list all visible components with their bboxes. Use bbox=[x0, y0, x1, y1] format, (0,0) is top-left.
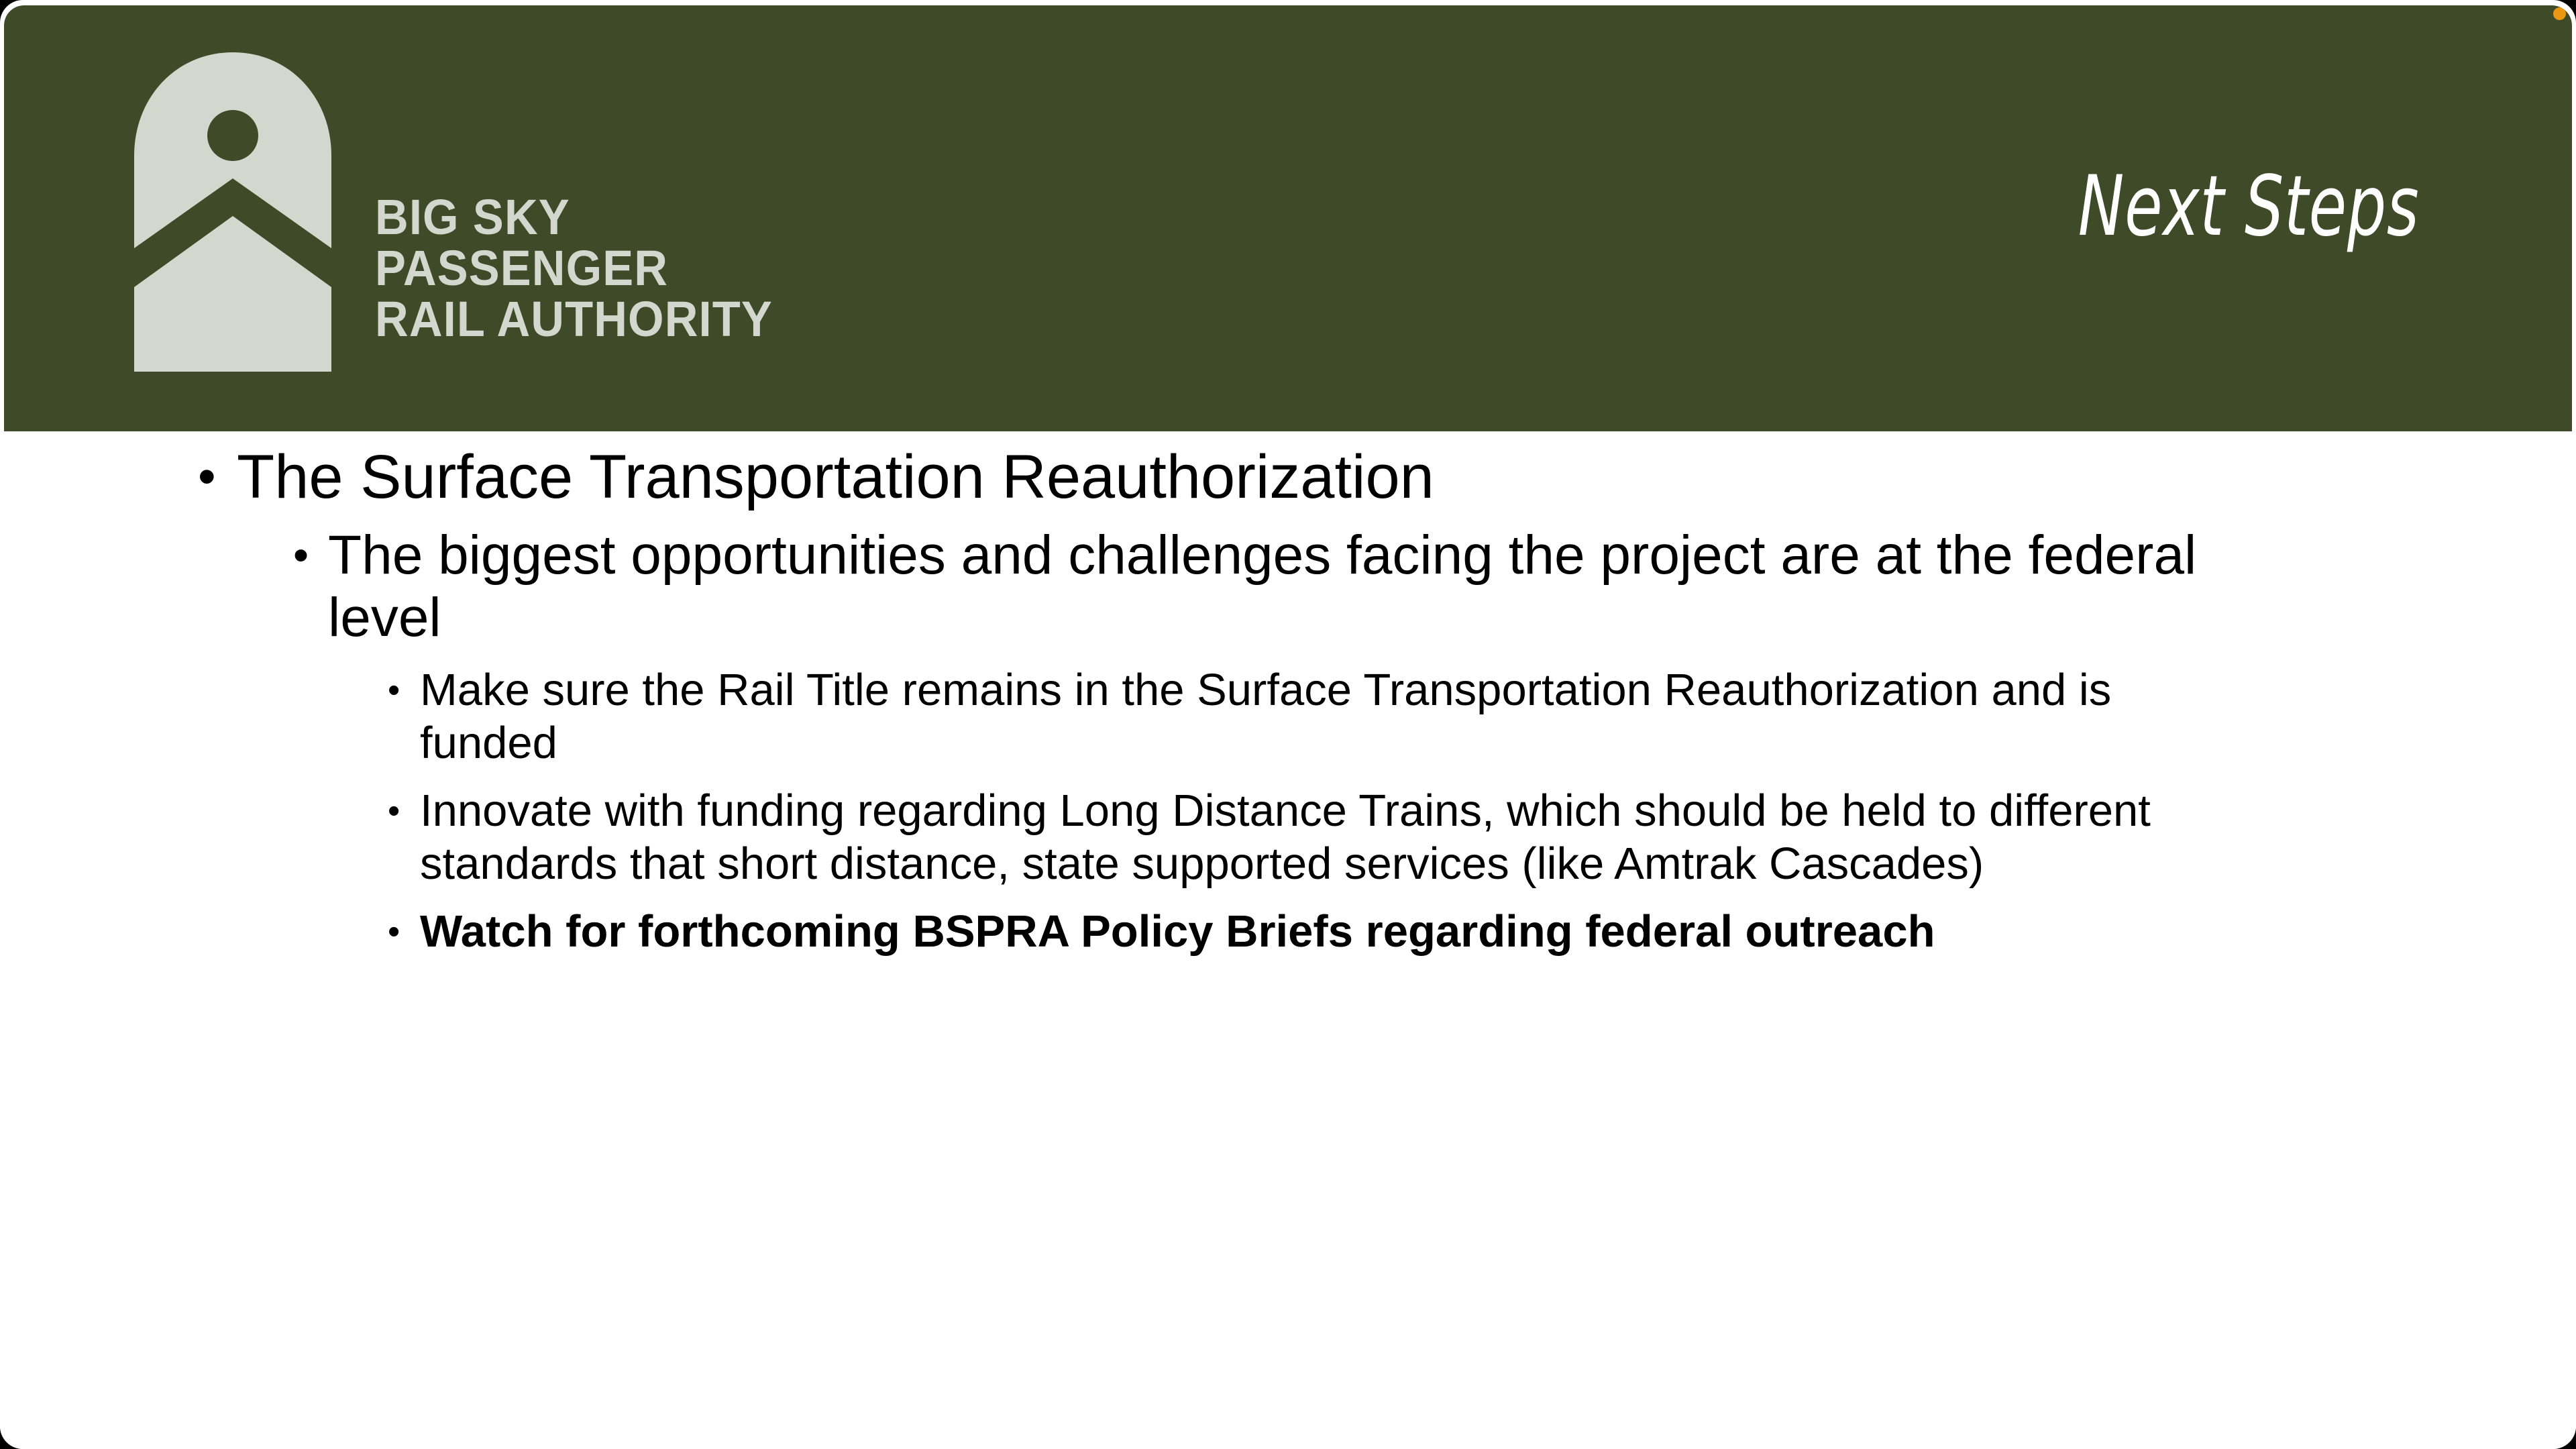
bullet-level2-item: • The biggest opportunities and challeng… bbox=[293, 525, 2576, 649]
bullet-level3b-line2: standards that short distance, state sup… bbox=[420, 837, 2365, 890]
slide-body: • The Surface Transportation Reauthoriza… bbox=[0, 431, 2576, 1449]
slide-title: Next Steps bbox=[2078, 158, 2419, 255]
bullet-marker-icon: • bbox=[388, 784, 420, 828]
bullet-marker-icon: • bbox=[198, 442, 237, 502]
presentation-slide: BIG SKY PASSENGER RAIL AUTHORITY Next St… bbox=[0, 0, 2576, 1449]
bullet-level1-text: The Surface Transportation Reauthorizati… bbox=[237, 442, 2383, 513]
bullet-level2-text: The biggest opportunities and challenges… bbox=[328, 525, 2367, 649]
bullet-level3-item: • Make sure the Rail Title remains in th… bbox=[388, 663, 2576, 769]
bullet-level3a-line2: funded bbox=[420, 716, 2365, 769]
logo-line-2: PASSENGER bbox=[375, 243, 773, 294]
bullet-marker-icon: • bbox=[388, 905, 420, 949]
bullet-level2-line2: level bbox=[328, 587, 2367, 649]
bullet-level3a-line1: Make sure the Rail Title remains in the … bbox=[420, 663, 2365, 716]
logo-line-3: RAIL AUTHORITY bbox=[375, 294, 773, 345]
logo-line-1: BIG SKY bbox=[375, 192, 773, 243]
bullet-marker-icon: • bbox=[388, 663, 420, 708]
slide-header-band: BIG SKY PASSENGER RAIL AUTHORITY Next St… bbox=[4, 5, 2572, 431]
bullet-marker-icon: • bbox=[293, 525, 328, 577]
bullet-level3b-line1: Innovate with funding regarding Long Dis… bbox=[420, 784, 2365, 837]
bullet-level3-text-a: Make sure the Rail Title remains in the … bbox=[420, 663, 2365, 769]
bspra-logo-icon bbox=[122, 47, 343, 377]
bullet-level2-line1: The biggest opportunities and challenges… bbox=[328, 525, 2367, 587]
bullet-level1-item: • The Surface Transportation Reauthoriza… bbox=[198, 442, 2576, 513]
bspra-logo-wordmark: BIG SKY PASSENGER RAIL AUTHORITY bbox=[375, 192, 803, 345]
corner-accent-dot bbox=[2553, 7, 2566, 20]
bullet-level3-item: • Innovate with funding regarding Long D… bbox=[388, 784, 2576, 890]
bullet-level3-item-emphasis: • Watch for forthcoming BSPRA Policy Bri… bbox=[388, 905, 2576, 958]
bullet-level3-text-c: Watch for forthcoming BSPRA Policy Brief… bbox=[420, 905, 2365, 958]
bullet-level3-text-b: Innovate with funding regarding Long Dis… bbox=[420, 784, 2365, 890]
